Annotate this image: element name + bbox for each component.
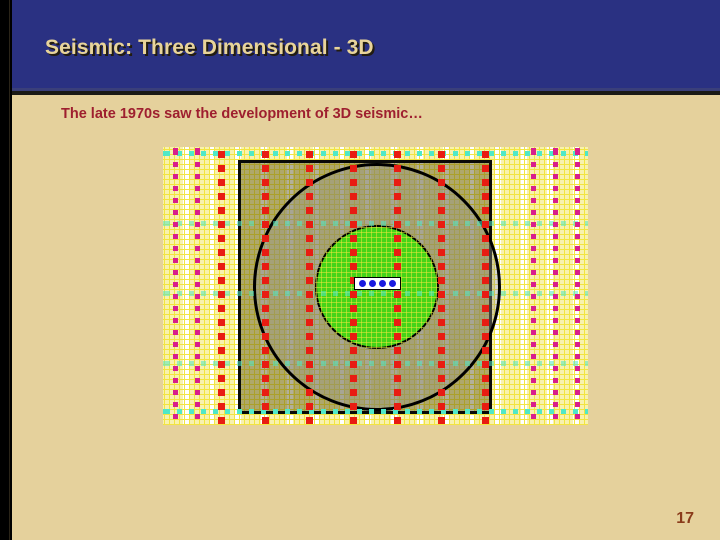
title-banner: Seismic: Three Dimensional - 3D xyxy=(12,0,720,88)
left-gutter-divider xyxy=(9,0,10,540)
source-line xyxy=(218,147,225,425)
receiver-line xyxy=(163,151,588,156)
outer-shotpoint-line xyxy=(531,147,536,425)
receiver-line xyxy=(163,361,588,366)
slide-root: Seismic: Three Dimensional - 3D The late… xyxy=(0,0,720,540)
blue-dot-icon xyxy=(379,280,386,287)
banner-shadow xyxy=(12,91,720,95)
receiver-line xyxy=(163,291,588,296)
receiver-line xyxy=(163,221,588,226)
centre-streamer-box xyxy=(354,277,401,290)
seismic-survey-figure xyxy=(163,147,588,425)
outer-shotpoint-line xyxy=(575,147,580,425)
page-number: 17 xyxy=(676,510,694,528)
page-title: Seismic: Three Dimensional - 3D xyxy=(45,36,374,60)
subtitle-text: The late 1970s saw the development of 3D… xyxy=(61,106,423,122)
source-line xyxy=(306,147,313,425)
outer-shotpoint-line xyxy=(553,147,558,425)
outer-shotpoint-line xyxy=(173,147,178,425)
source-line xyxy=(262,147,269,425)
blue-dot-icon xyxy=(369,280,376,287)
left-black-gutter xyxy=(0,0,12,540)
receiver-line xyxy=(163,409,588,414)
blue-dot-icon xyxy=(389,280,396,287)
source-line xyxy=(482,147,489,425)
outer-shotpoint-line xyxy=(195,147,200,425)
blue-dot-icon xyxy=(359,280,366,287)
source-line xyxy=(438,147,445,425)
